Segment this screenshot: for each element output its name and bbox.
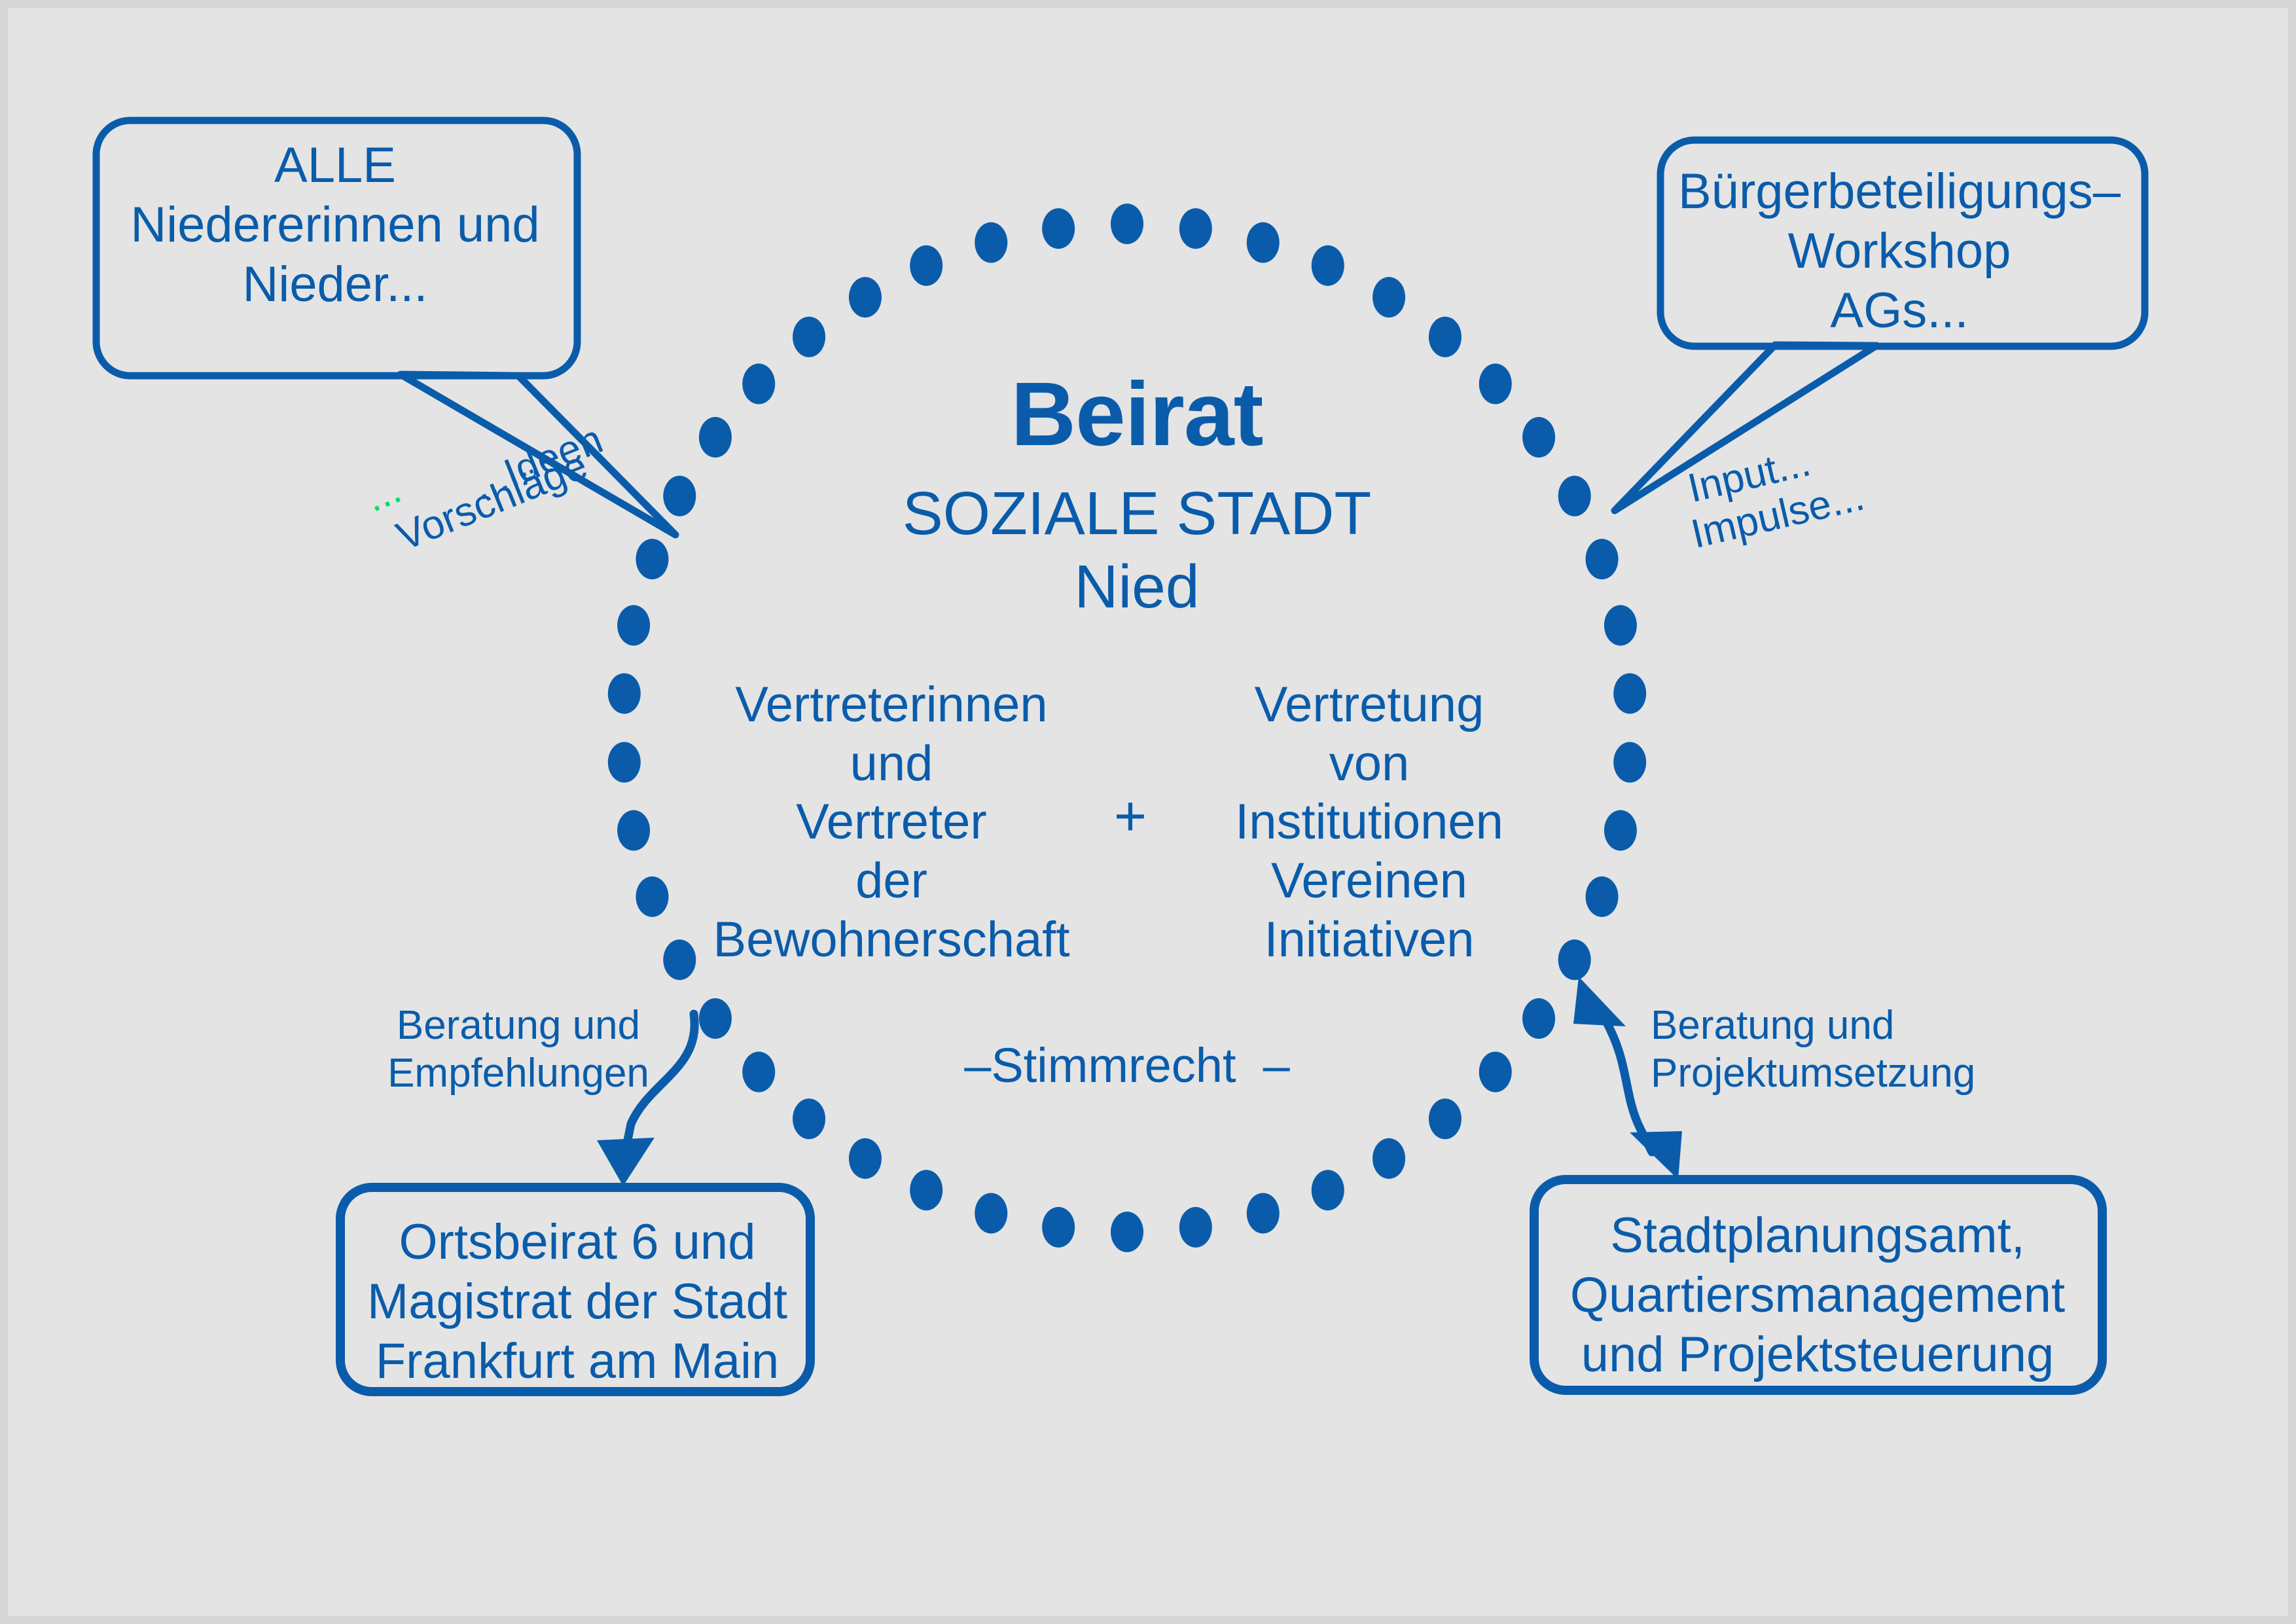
circle-dot — [699, 417, 732, 458]
circle-dot — [1604, 605, 1637, 645]
circle-dot — [1372, 277, 1405, 317]
circle-dot — [617, 605, 650, 645]
circle-dot — [910, 1170, 942, 1210]
bubble-top-right-label: Bürgerbeteiligungs– Workshop AGs... — [1664, 162, 2135, 341]
circle-dot — [1522, 417, 1555, 458]
bubble-top-left-label: ALLE Niedererinnen und Nieder... — [99, 135, 571, 315]
circle-dot — [1179, 1207, 1212, 1248]
circle-dot — [742, 363, 775, 404]
circle-dot — [793, 1098, 825, 1139]
circle-dot — [975, 223, 1007, 263]
annotation-beratung-projektumsetzung: Beratung und Projektumsetzung — [1651, 1001, 1958, 1097]
circle-dot — [608, 742, 641, 783]
circle-dot — [636, 539, 668, 579]
circle-dot — [1312, 1170, 1344, 1210]
circle-dot — [617, 810, 650, 851]
circle-dot — [608, 673, 641, 713]
circle-dot — [975, 1193, 1007, 1233]
circle-dot — [1111, 204, 1143, 244]
circle-dot — [1586, 539, 1619, 579]
circle-dot — [1586, 876, 1619, 917]
circle-dot — [1558, 476, 1591, 516]
circle-dot — [1429, 1098, 1462, 1139]
circle-dot — [1613, 673, 1646, 713]
plus-symbol: + — [1088, 784, 1173, 850]
circle-dot — [636, 876, 668, 917]
circle-dot — [1312, 245, 1344, 286]
circle-dot — [663, 476, 696, 516]
circle-dot — [1613, 742, 1646, 783]
circle-dot — [1247, 223, 1280, 263]
circle-dot — [742, 1052, 775, 1092]
circle-dot — [1042, 1207, 1075, 1248]
circle-dot — [1111, 1212, 1143, 1252]
circle-dot — [1042, 208, 1075, 249]
circle-dot — [1429, 317, 1462, 357]
circle-dot — [1522, 998, 1555, 1039]
circle-dot — [910, 245, 942, 286]
diagram-canvas: Beirat SOZIALE STADT Nied Vertreterinnen… — [0, 0, 2296, 1624]
circle-dot — [793, 317, 825, 357]
circle-dot — [1479, 1052, 1512, 1092]
box-bottom-right-label: Stadtplanungsamt, Quartiersmanagement un… — [1533, 1206, 2102, 1385]
circle-dot — [1604, 810, 1637, 851]
subtitle-line-2: Nied — [826, 551, 1448, 623]
members-column-residents: Vertreterinnen und Vertreter der Bewohne… — [682, 676, 1101, 969]
circle-dot — [1479, 363, 1512, 404]
box-bottom-left-label: Ortsbeirat 6 und Magistrat der Stadt Fra… — [348, 1212, 806, 1392]
circle-dot — [1179, 208, 1212, 249]
annotation-beratung-empfehlungen: Beratung und Empfehlungen — [381, 1001, 656, 1097]
page-title: Beirat — [826, 361, 1448, 468]
circle-dot — [849, 277, 882, 317]
members-column-institutions: Vertretung von Institutionen Vereinen In… — [1186, 676, 1552, 969]
circle-dot — [1372, 1138, 1405, 1179]
circle-dot — [699, 998, 732, 1039]
voting-rights-note: –Stimmrecht – — [911, 1037, 1343, 1094]
circle-dot — [1247, 1193, 1280, 1233]
circle-dot — [1558, 939, 1591, 980]
circle-dot — [849, 1138, 882, 1179]
subtitle-line-1: SOZIALE STADT — [826, 478, 1448, 550]
